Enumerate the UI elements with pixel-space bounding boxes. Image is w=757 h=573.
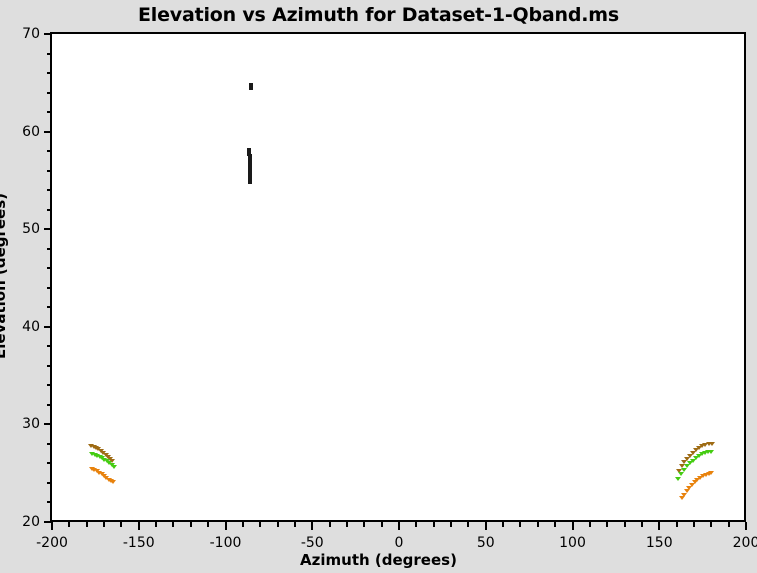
y-axis-tick-minor: [47, 287, 52, 289]
x-axis-tick-minor: [155, 522, 157, 527]
data-point-marker: [675, 477, 681, 481]
y-axis-tick-minor: [47, 170, 52, 172]
axis-frame-bottom: [50, 520, 746, 522]
data-point-marker: [248, 179, 252, 184]
data-layer: [52, 34, 746, 522]
y-axis-title: Elevation (degrees): [0, 193, 9, 359]
y-axis-tick-major: [44, 33, 52, 35]
x-axis-tick-minor: [68, 522, 70, 527]
y-axis-tick-minor: [47, 384, 52, 386]
x-axis-tick-major: [572, 522, 574, 530]
y-axis-tick-minor: [47, 443, 52, 445]
x-axis-tick-major: [658, 522, 660, 530]
data-point-marker: [110, 480, 116, 484]
y-axis-tick-label: 60: [22, 124, 40, 140]
y-axis-tick-minor: [47, 267, 52, 269]
y-axis-tick-minor: [47, 306, 52, 308]
x-axis-tick-minor: [519, 522, 521, 527]
data-point-marker: [681, 493, 687, 497]
x-axis-tick-major: [485, 522, 487, 530]
x-axis-title: Azimuth (degrees): [0, 551, 757, 569]
x-axis-tick-minor: [103, 522, 105, 527]
x-axis-tick-minor: [363, 522, 365, 527]
x-axis-tick-minor: [450, 522, 452, 527]
x-axis-tick-minor: [381, 522, 383, 527]
y-axis-tick-label: 70: [22, 26, 40, 42]
x-axis-tick-minor: [554, 522, 556, 527]
x-axis-tick-minor: [120, 522, 122, 527]
x-axis-tick-label: 50: [477, 535, 495, 551]
y-axis-tick-major: [44, 228, 52, 230]
x-axis-tick-major: [225, 522, 227, 530]
y-axis-tick-major: [44, 131, 52, 133]
y-axis-tick-minor: [47, 53, 52, 55]
data-point-marker: [681, 468, 687, 472]
x-axis-tick-minor: [537, 522, 539, 527]
y-axis-tick-major: [44, 423, 52, 425]
y-axis-tick-minor: [47, 111, 52, 113]
y-axis-tick-label: 30: [22, 416, 40, 432]
x-axis-tick-minor: [277, 522, 279, 527]
x-axis-tick-minor: [329, 522, 331, 527]
x-axis-tick-minor: [86, 522, 88, 527]
x-axis-tick-label: -50: [301, 535, 324, 551]
y-axis-tick-minor: [47, 365, 52, 367]
x-axis-tick-major: [51, 522, 53, 530]
y-axis-tick-minor: [47, 248, 52, 250]
x-axis-tick-minor: [710, 522, 712, 527]
chart-title: Elevation vs Azimuth for Dataset-1-Qband…: [0, 0, 757, 30]
y-axis-tick-minor: [47, 209, 52, 211]
plot-area: 203040506070-200-150-100-50050100150200: [50, 32, 746, 522]
x-axis-tick-label: 200: [733, 535, 757, 551]
x-axis-tick-minor: [589, 522, 591, 527]
x-axis-tick-major: [745, 522, 747, 530]
y-axis-tick-label: 40: [22, 319, 40, 335]
x-axis-tick-minor: [676, 522, 678, 527]
x-axis-tick-minor: [467, 522, 469, 527]
y-axis-tick-minor: [47, 482, 52, 484]
figure-canvas: Elevation vs Azimuth for Dataset-1-Qband…: [0, 0, 757, 573]
x-axis-tick-major: [398, 522, 400, 530]
data-point-marker: [678, 472, 684, 476]
x-axis-tick-minor: [433, 522, 435, 527]
x-axis-tick-minor: [346, 522, 348, 527]
x-axis-tick-minor: [728, 522, 730, 527]
axis-frame-right: [744, 32, 746, 522]
x-axis-tick-major: [138, 522, 140, 530]
x-axis-tick-minor: [259, 522, 261, 527]
y-axis-tick-minor: [47, 501, 52, 503]
y-axis-tick-minor: [47, 189, 52, 191]
x-axis-tick-minor: [207, 522, 209, 527]
x-axis-tick-minor: [624, 522, 626, 527]
y-axis-tick-minor: [47, 72, 52, 74]
x-axis-tick-major: [311, 522, 313, 530]
y-axis-tick-major: [44, 326, 52, 328]
x-axis-tick-minor: [242, 522, 244, 527]
x-axis-tick-minor: [190, 522, 192, 527]
y-axis-tick-minor: [47, 345, 52, 347]
x-axis-tick-minor: [693, 522, 695, 527]
data-point-marker: [249, 85, 253, 90]
x-axis-tick-label: 150: [646, 535, 673, 551]
data-point-marker: [708, 471, 714, 475]
data-point-marker: [709, 442, 715, 446]
data-point-marker: [111, 465, 117, 469]
y-axis-tick-minor: [47, 404, 52, 406]
x-axis-tick-minor: [415, 522, 417, 527]
x-axis-tick-label: 100: [559, 535, 586, 551]
x-axis-tick-minor: [606, 522, 608, 527]
x-axis-tick-label: -100: [210, 535, 242, 551]
x-axis-tick-label: -200: [36, 535, 68, 551]
y-axis-tick-label: 20: [22, 514, 40, 530]
y-axis-tick-minor: [47, 92, 52, 94]
x-axis-tick-label: 0: [395, 535, 404, 551]
y-axis-tick-minor: [47, 150, 52, 152]
x-axis-tick-minor: [502, 522, 504, 527]
x-axis-tick-minor: [294, 522, 296, 527]
data-point-marker: [708, 450, 714, 454]
y-axis-tick-minor: [47, 462, 52, 464]
x-axis-tick-label: -150: [123, 535, 155, 551]
x-axis-tick-minor: [641, 522, 643, 527]
y-axis-tick-label: 50: [22, 221, 40, 237]
x-axis-tick-minor: [172, 522, 174, 527]
